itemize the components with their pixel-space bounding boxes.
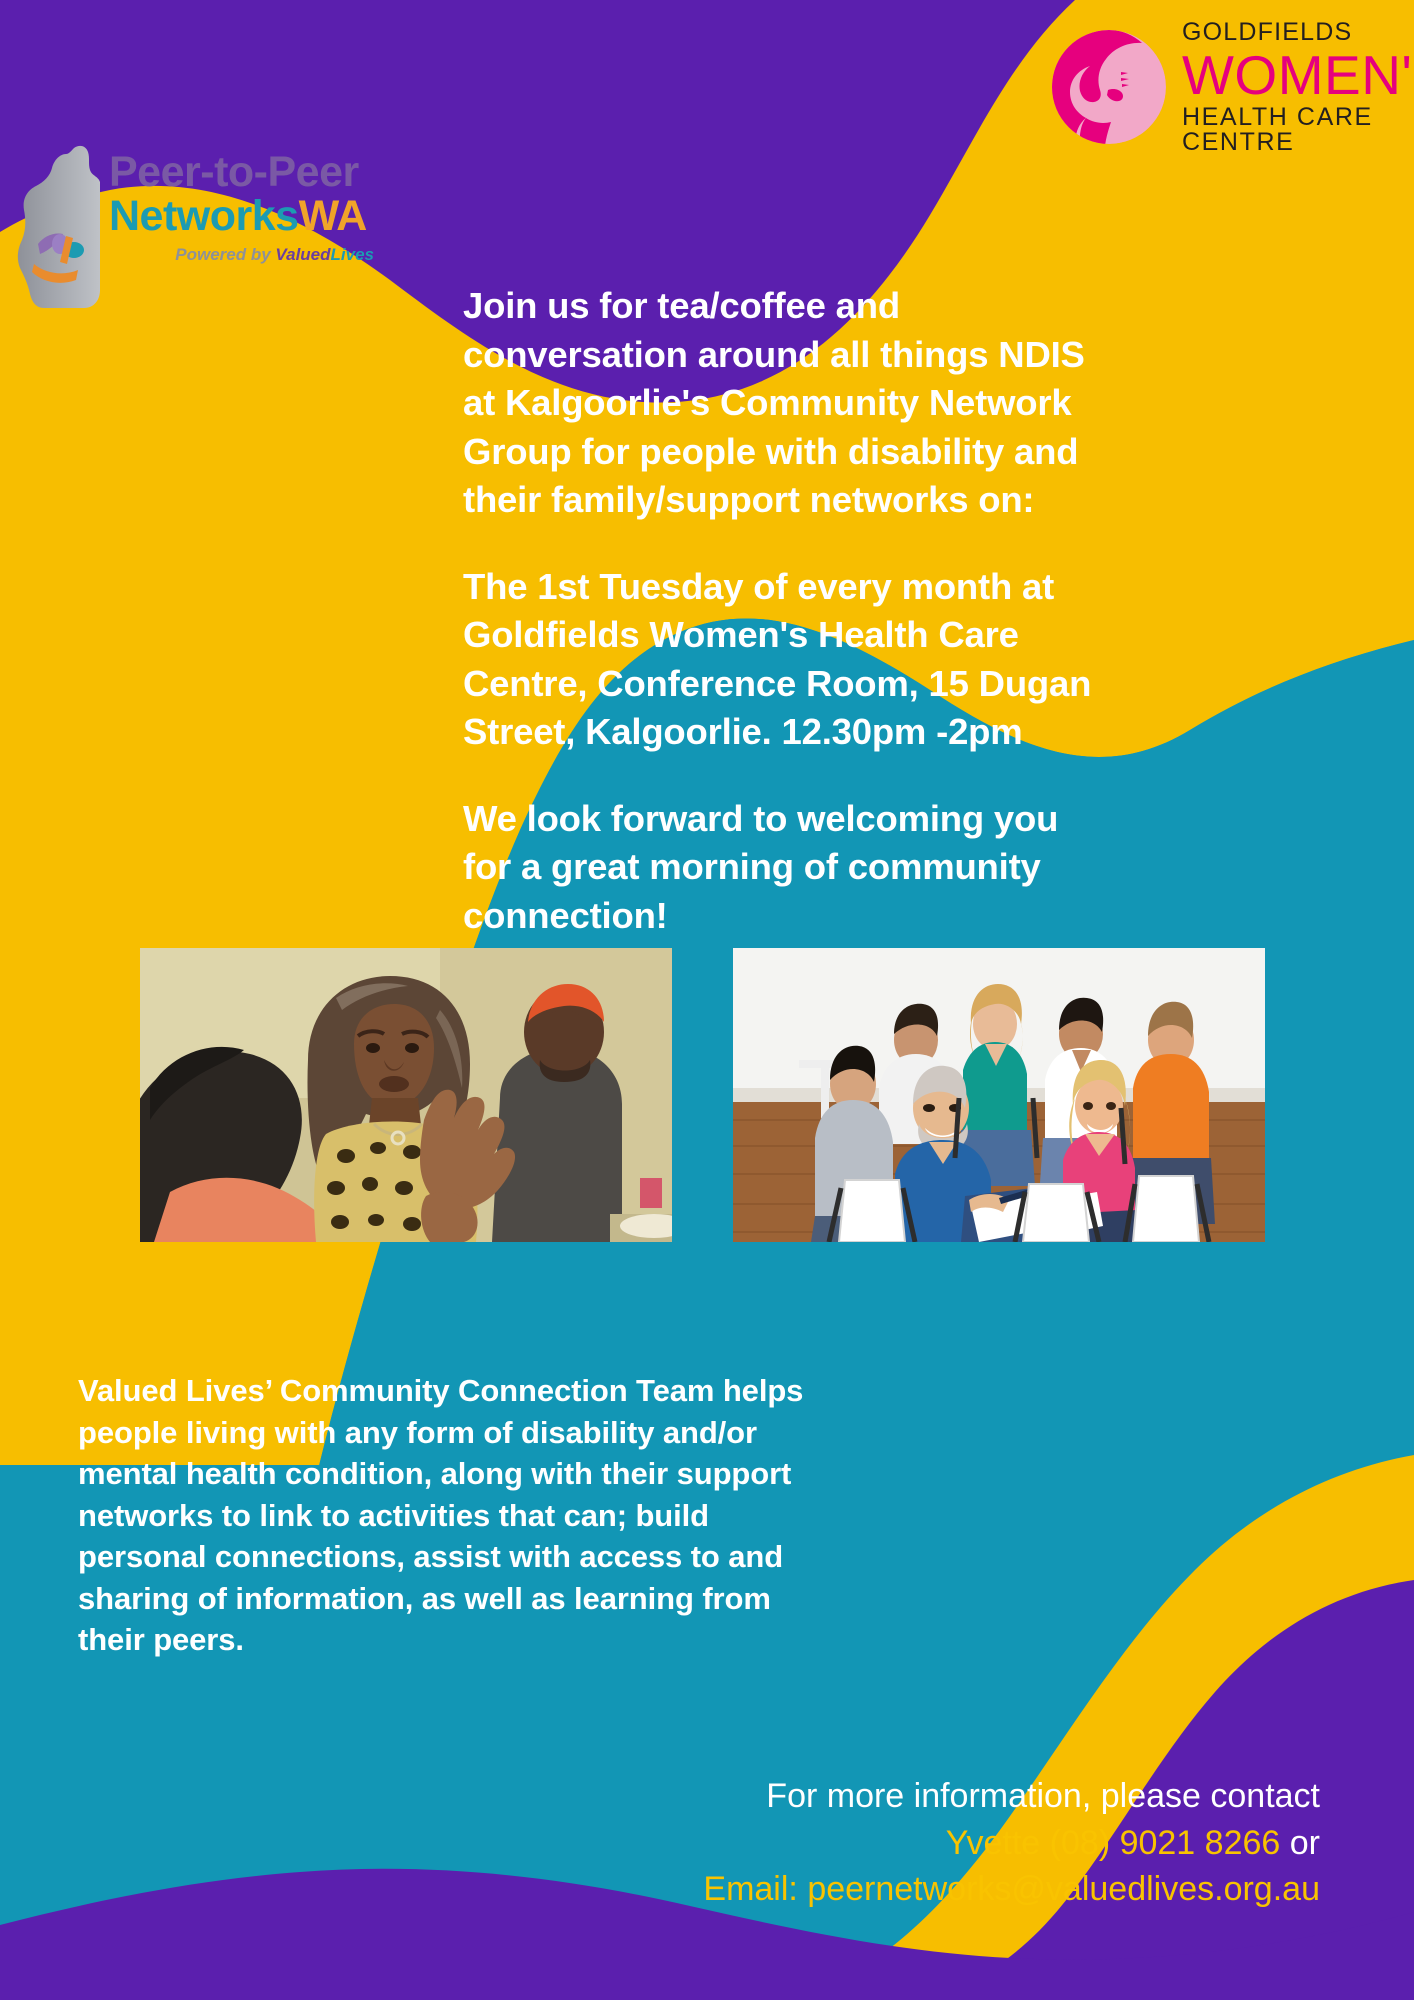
p2p-wa-text: WA: [299, 192, 367, 240]
poster-canvas: GOLDFIELDS WOMEN'S HEALTH CARE CENTRE: [0, 0, 1414, 2000]
footer-line-phone: Yvette (08) 9021 8266 or: [703, 1820, 1320, 1866]
footer-phone-number[interactable]: (08) 9021 8266: [1050, 1824, 1281, 1862]
footer-line-email: Email: peernetworks@valuedlives.org.au: [703, 1866, 1320, 1912]
goldfields-womens-wordmark: GOLDFIELDS WOMEN'S HEALTH CARE CENTRE: [1182, 20, 1414, 155]
gwhc-line-goldfields: GOLDFIELDS: [1182, 20, 1414, 45]
paragraph-welcome: We look forward to welcoming you for a g…: [463, 795, 1103, 941]
photo-row: [140, 948, 1280, 1248]
lower-body-copy: Valued Lives’ Community Connection Team …: [78, 1370, 818, 1661]
p2p-valued-text: Valued: [275, 245, 330, 264]
footer-or-text: or: [1290, 1824, 1320, 1862]
photo-woman-speaking-at-group-meeting: [140, 948, 672, 1242]
western-australia-map-icon: [14, 140, 119, 315]
peer-to-peer-wordmark: Peer-to-Peer NetworksWA Powered by Value…: [109, 150, 374, 265]
p2p-line-networks-wa: NetworksWA: [109, 194, 374, 238]
paragraph-when-where: The 1st Tuesday of every month at Goldfi…: [463, 563, 1103, 757]
gwhc-line-health-care-centre: HEALTH CARE CENTRE: [1182, 105, 1414, 155]
p2p-powered-prefix: Powered by: [175, 245, 275, 264]
footer-line-intro: For more information, please contact: [703, 1773, 1320, 1819]
peer-to-peer-networks-wa-logo: Peer-to-Peer NetworksWA Powered by Value…: [14, 140, 374, 315]
p2p-networks-text: Networks: [109, 192, 299, 240]
paragraph-valued-lives: Valued Lives’ Community Connection Team …: [78, 1370, 818, 1661]
footer-contact-block: For more information, please contact Yve…: [703, 1773, 1320, 1912]
paragraph-invitation: Join us for tea/coffee and conversation …: [463, 282, 1103, 525]
footer-email-address[interactable]: peernetworks@valuedlives.org.au: [807, 1870, 1320, 1908]
woman-silhouette-circle-icon: [1050, 28, 1168, 146]
p2p-lives-text: Lives: [331, 245, 374, 264]
gwhc-line-womens: WOMEN'S: [1182, 48, 1414, 103]
p2p-line-peer-to-peer: Peer-to-Peer: [109, 150, 374, 194]
p2p-powered-by-line: Powered by ValuedLives: [109, 245, 374, 265]
footer-intro-text: For more information, please contact: [766, 1777, 1320, 1815]
main-body-copy: Join us for tea/coffee and conversation …: [463, 282, 1103, 940]
footer-contact-name: Yvette: [946, 1824, 1041, 1862]
footer-email-label: Email:: [703, 1870, 807, 1908]
photo-support-group-circle: [733, 948, 1265, 1242]
goldfields-womens-logo: GOLDFIELDS WOMEN'S HEALTH CARE CENTRE: [1050, 22, 1398, 152]
